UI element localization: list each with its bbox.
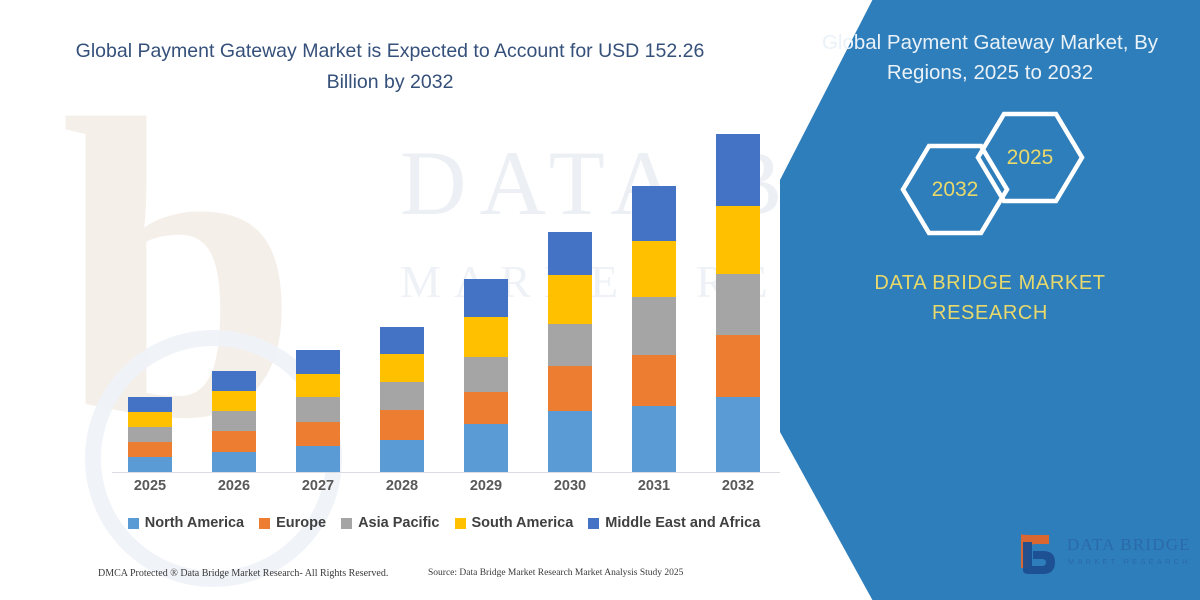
bar-segment [128,442,172,457]
legend-item[interactable]: South America [455,515,574,531]
bar-segment [128,412,172,427]
bar-segment [296,446,340,472]
brand-line-2: RESEARCH [810,298,1170,328]
legend-label: South America [472,515,574,531]
legend-label: North America [145,515,244,531]
bar-segment [380,410,424,440]
brand-line-1: DATA BRIDGE MARKET [810,268,1170,298]
footer-source: Source: Data Bridge Market Research Mark… [428,568,683,578]
legend-item[interactable]: Asia Pacific [341,515,439,531]
x-axis-labels: 20252026202720282029203020312032 [108,478,780,504]
legend-item[interactable]: North America [128,515,244,531]
legend-label: Middle East and Africa [605,515,760,531]
bar-segment [464,424,508,472]
hexagon-badges: 2032 2025 [880,110,1100,230]
legend-label: Europe [276,515,326,531]
chart-plot-area [108,120,780,472]
infographic-canvas: b DATA BRIDGE MARKET RESEARCH Global Pay… [0,0,1200,600]
x-axis-tick-2029: 2029 [451,478,521,494]
footer-copyright: DMCA Protected ® Data Bridge Market Rese… [98,568,388,579]
x-axis-tick-2027: 2027 [283,478,353,494]
legend-swatch [588,518,599,529]
legend-item[interactable]: Europe [259,515,326,531]
bar-segment [212,391,256,411]
chart-legend: North AmericaEuropeAsia PacificSouth Ame… [108,512,780,534]
hexagon-label-2025: 2025 [975,146,1085,170]
panel-title: Global Payment Gateway Market, By Region… [800,28,1180,88]
bar-segment [128,457,172,472]
x-axis-tick-2025: 2025 [115,478,185,494]
bar-segment [548,275,592,324]
bar-2025 [128,397,172,472]
legend-label: Asia Pacific [358,515,439,531]
bar-2030 [548,232,592,472]
bar-segment [296,350,340,373]
bar-segment [212,452,256,472]
bar-segment [548,232,592,275]
bar-segment [548,366,592,411]
bar-segment [632,241,676,298]
bar-2032 [716,134,760,472]
bar-segment [464,357,508,392]
legend-swatch [455,518,466,529]
bar-segment [464,392,508,424]
x-axis-tick-2028: 2028 [367,478,437,494]
bar-segment [464,317,508,356]
bar-segment [548,324,592,367]
bar-segment [716,134,760,207]
brand-name: DATA BRIDGE MARKET RESEARCH [810,268,1170,328]
data-bridge-logo: DATA BRIDGE MARKET RESEARCH [1015,528,1190,576]
bar-segment [212,431,256,451]
svg-text:MARKET RESEARCH: MARKET RESEARCH [1068,557,1190,566]
bar-segment [716,335,760,397]
bar-segment [716,206,760,273]
bar-segment [380,327,424,354]
right-panel: Global Payment Gateway Market, By Region… [780,0,1200,600]
bar-segment [296,374,340,397]
svg-text:DATA BRIDGE: DATA BRIDGE [1067,535,1190,554]
bar-segment [632,297,676,355]
bar-2028 [380,327,424,472]
bar-segment [380,440,424,472]
bar-segment [128,427,172,442]
x-axis-line [112,472,780,473]
x-axis-tick-2032: 2032 [703,478,773,494]
hexagon-badge-2025: 2025 [975,110,1085,205]
bar-segment [632,406,676,472]
bar-segment [380,382,424,410]
x-axis-tick-2026: 2026 [199,478,269,494]
bar-2026 [212,371,256,472]
bar-2031 [632,186,676,472]
bar-segment [212,411,256,431]
x-axis-tick-2031: 2031 [619,478,689,494]
bar-segment [716,397,760,472]
bar-segment [380,354,424,383]
bar-segment [632,355,676,406]
x-axis-tick-2030: 2030 [535,478,605,494]
bar-2027 [296,350,340,472]
stacked-bar-chart: 20252026202720282029203020312032 [108,120,780,475]
bar-segment [716,274,760,336]
legend-swatch [341,518,352,529]
page-title: Global Payment Gateway Market is Expecte… [60,36,720,98]
legend-item[interactable]: Middle East and Africa [588,515,760,531]
bar-segment [296,397,340,422]
bar-segment [548,411,592,472]
footer: DMCA Protected ® Data Bridge Market Rese… [0,568,800,588]
bar-segment [296,422,340,447]
bar-segment [632,186,676,240]
legend-swatch [128,518,139,529]
bar-segment [212,371,256,391]
bar-2029 [464,279,508,472]
legend-swatch [259,518,270,529]
bar-segment [464,279,508,317]
bar-segment [128,397,172,412]
